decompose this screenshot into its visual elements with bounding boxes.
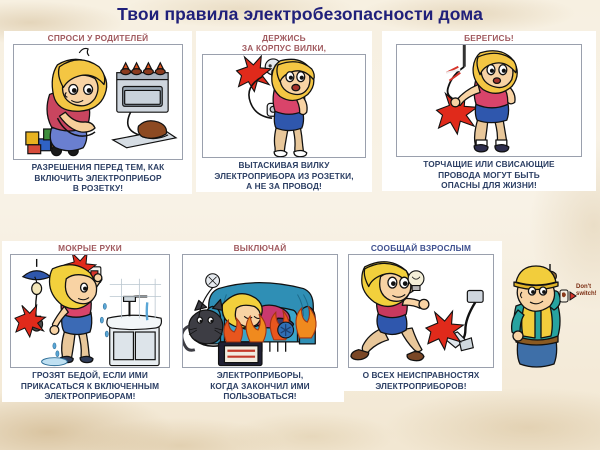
safety-card-ask-parents: СПРОСИ У РОДИТЕЛЕЙ [4, 31, 192, 194]
illustration-frame-beware [396, 44, 582, 157]
card-caption: ТОРЧАЩИЕ ИЛИ СВИСАЮЩИЕ ПРОВОДА МОГУТ БЫТ… [382, 157, 596, 191]
card-caption: РАЗРЕШЕНИЯ ПЕРЕД ТЕМ, КАК ВКЛЮЧИТЬ ЭЛЕКТ… [4, 160, 192, 194]
illustration-frame-tell-adults [348, 254, 494, 368]
card-heading: ДЕРЖИСЬ ЗА КОРПУС ВИЛКИ, [196, 31, 372, 53]
card-heading: ВЫКЛЮЧАЙ [176, 241, 344, 253]
safety-card-hold-plug-body: ДЕРЖИСЬ ЗА КОРПУС ВИЛКИ, [196, 31, 372, 192]
card-caption: ВЫТАСКИВАЯ ВИЛКУ ЭЛЕКТРОПРИБОРА ИЗ РОЗЕТ… [196, 158, 372, 192]
card-heading: СПРОСИ У РОДИТЕЛЕЙ [4, 31, 192, 43]
art-child-playing-blocks-with-stove-and-iron [14, 45, 182, 160]
card-heading: МОКРЫЕ РУКИ [2, 241, 178, 253]
card-heading: СООБЩАЙ ВЗРОСЛЫМ [340, 241, 502, 253]
card-caption: ЭЛЕКТРОПРИБОРЫ, КОГДА ЗАКОНЧИЛ ИМИ ПОЛЬЗ… [176, 368, 344, 402]
art-child-asleep-on-sofa-with-cat-and-burning-heater [183, 255, 337, 368]
safety-card-switch-off: ВЫКЛЮЧАЙ [176, 241, 344, 402]
card-caption: О ВСЕХ НЕИСПРАВНОСТЯХ ЭЛЕКТРОПРИБОРОВ! [340, 368, 502, 391]
safety-card-beware: БЕРЕГИСЬ! [382, 31, 596, 191]
art-boy-touching-hanging-wire-with-spark [397, 45, 581, 157]
electrician-figure: Don't switch! [498, 262, 598, 370]
poster-background: Твои правила электробезопасности дома СП… [0, 0, 600, 450]
art-child-wet-hands-switch-lamp-and-sink [11, 255, 169, 368]
illustration-frame-wet-hands [10, 254, 170, 368]
art-electrician-in-yellow-hard-hat-holding-lamp [498, 262, 598, 370]
art-boy-running-with-bulb-and-broken-socket [349, 255, 493, 367]
illustration-frame-ask-parents [13, 44, 183, 160]
art-boy-pulling-cord-from-socket-with-spark [203, 55, 365, 158]
safety-card-wet-hands: МОКРЫЕ РУКИ [2, 241, 178, 402]
safety-card-tell-adults: СООБЩАЙ ВЗРОСЛЫМ [340, 241, 502, 391]
card-heading: БЕРЕГИСЬ! [382, 31, 596, 43]
electrician-sign-text: Don't switch! [576, 284, 597, 297]
card-caption: ГРОЗЯТ БЕДОЙ, ЕСЛИ ИМИ ПРИКАСАТЬСЯ К ВКЛ… [2, 368, 178, 402]
page-title: Твои правила электробезопасности дома [0, 4, 600, 25]
illustration-frame-hold-plug-body [202, 54, 366, 158]
illustration-frame-switch-off [182, 254, 338, 368]
